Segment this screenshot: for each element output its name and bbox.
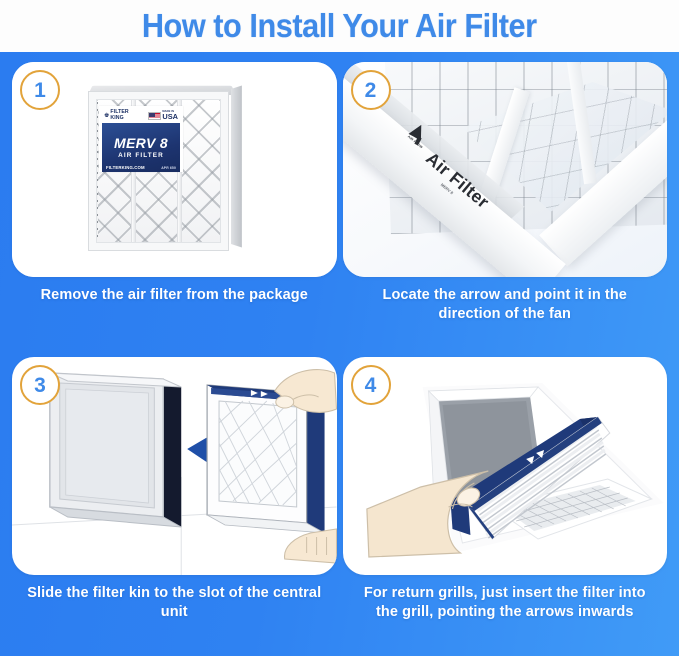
country-label: USA [162, 113, 178, 120]
filter-side-depth [307, 393, 325, 533]
apr-code: APR 650 [161, 166, 176, 170]
step-1-photo: ♚ FILTER KING [12, 62, 337, 277]
infographic-page: How to Install Your Air Filter 1 [0, 0, 679, 656]
step-card-1: 1 [12, 62, 337, 355]
product-label: ♚ FILTER KING [99, 106, 183, 172]
page-header: How to Install Your Air Filter [0, 0, 679, 52]
product-type: AIR FILTER [118, 152, 164, 159]
step-4-number: 4 [365, 375, 377, 396]
steps-grid: 1 [0, 52, 679, 656]
label-footer-row: FILTERKING.COM APR 650 [106, 165, 176, 170]
step-4-illustration [343, 357, 668, 575]
step-3-image-card: 3 [12, 357, 337, 575]
step-1-number: 1 [34, 80, 46, 101]
step-card-3: 3 [12, 357, 337, 650]
page-title: How to Install Your Air Filter [142, 7, 537, 45]
brand-line-2: KING [110, 115, 123, 121]
brand-text: FILTER KING [110, 110, 128, 121]
step-2-caption: Locate the arrow and point it in the dir… [343, 286, 668, 325]
step-3-number: 3 [34, 375, 46, 396]
step-2-photo: AIR FLOW Air Filter MERV 8 [343, 62, 668, 277]
step-4-caption: For return grills, just insert the filte… [343, 584, 668, 623]
step-2-badge: 2 [351, 70, 391, 110]
step-1-badge: 1 [20, 70, 60, 110]
hand-top-grip [275, 370, 337, 413]
step-card-4: 4 [343, 357, 668, 650]
step-2-image-card: 2 AIR FLOW Air Filter MERV 8 [343, 62, 668, 277]
step-card-2: 2 AIR FLOW Air Filter MERV 8 Lo [343, 62, 668, 355]
slide-filter-diagram [12, 357, 337, 575]
step-3-caption: Slide the filter kin to the slot of the … [12, 584, 337, 623]
slot-opening [163, 379, 181, 527]
label-header-row: ♚ FILTER KING [102, 109, 180, 122]
step-1-image-card: 1 [12, 62, 337, 277]
filter-front-face: ♚ FILTER KING [88, 91, 229, 251]
step-4-badge: 4 [351, 365, 391, 405]
unit-inner-panel [66, 389, 149, 503]
brand-lockup: ♚ FILTER KING [104, 110, 129, 121]
website-text: FILTERKING.COM [106, 165, 145, 170]
central-unit-slot [50, 373, 181, 527]
step-3-illustration [12, 357, 337, 575]
filter-side-face [231, 86, 242, 248]
step-3-badge: 3 [20, 365, 60, 405]
label-blue-block: MERV 8 AIR FILTER FILTERKING.COM APR 650 [102, 123, 180, 172]
merv-rating: MERV 8 [114, 136, 168, 150]
boxed-air-filter: ♚ FILTER KING [88, 79, 236, 251]
made-in-usa-badge: MADE IN USA [148, 111, 178, 121]
hand-bottom-grip [285, 529, 337, 563]
step-1-caption: Remove the air filter from the package [12, 286, 337, 305]
step-4-image-card: 4 [343, 357, 668, 575]
crown-icon: ♚ [104, 113, 109, 119]
return-grill-diagram [343, 357, 668, 575]
usa-flag-icon [148, 112, 161, 120]
made-in-usa-text: MADE IN USA [162, 111, 178, 121]
step-2-number: 2 [365, 80, 377, 101]
